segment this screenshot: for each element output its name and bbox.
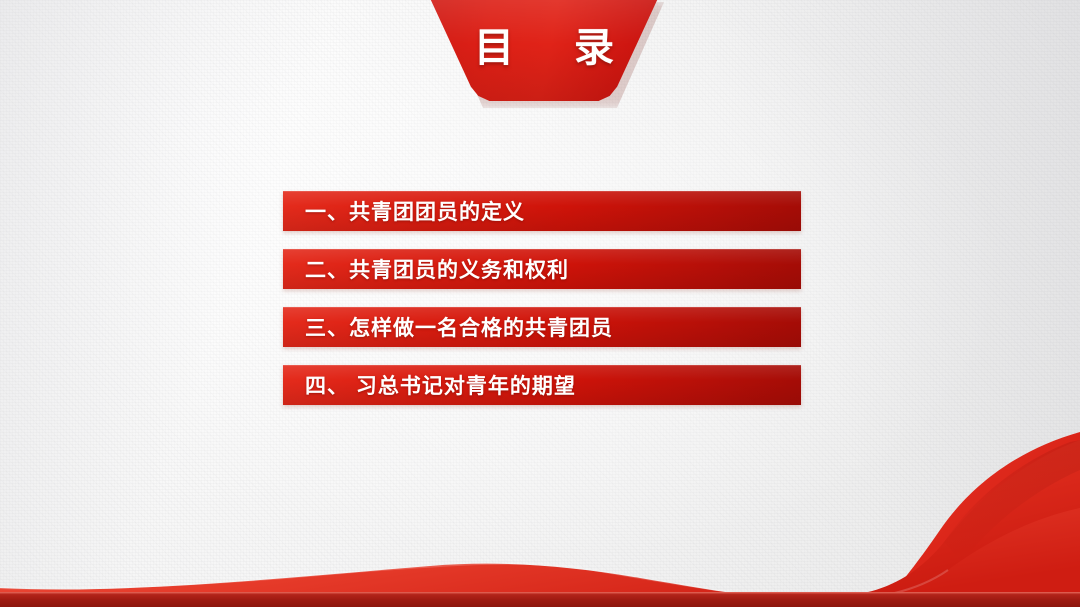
toc-item-1[interactable]: 一、共青团团员的定义 bbox=[283, 191, 801, 231]
bottom-red-strip bbox=[0, 592, 1080, 607]
table-of-contents-list: 一、共青团团员的定义 二、共青团员的义务和权利 三、怎样做一名合格的共青团员 四… bbox=[283, 191, 801, 405]
page-title: 目 录 bbox=[420, 28, 668, 68]
toc-item-2-label: 二、共青团员的义务和权利 bbox=[283, 254, 569, 284]
toc-item-3-label: 三、怎样做一名合格的共青团员 bbox=[283, 312, 613, 342]
toc-item-2[interactable]: 二、共青团员的义务和权利 bbox=[283, 249, 801, 289]
toc-item-4[interactable]: 四、 习总书记对青年的期望 bbox=[283, 365, 801, 405]
toc-item-4-label: 四、 习总书记对青年的期望 bbox=[283, 370, 576, 400]
toc-item-3[interactable]: 三、怎样做一名合格的共青团员 bbox=[283, 307, 801, 347]
slide-canvas: 目 录 一、共青团团员的定义 二、共青团员的义务和权利 三、怎样做一名合格的共青… bbox=[0, 0, 1080, 607]
header-banner: 目 录 bbox=[420, 0, 668, 110]
toc-item-1-label: 一、共青团团员的定义 bbox=[283, 196, 525, 226]
